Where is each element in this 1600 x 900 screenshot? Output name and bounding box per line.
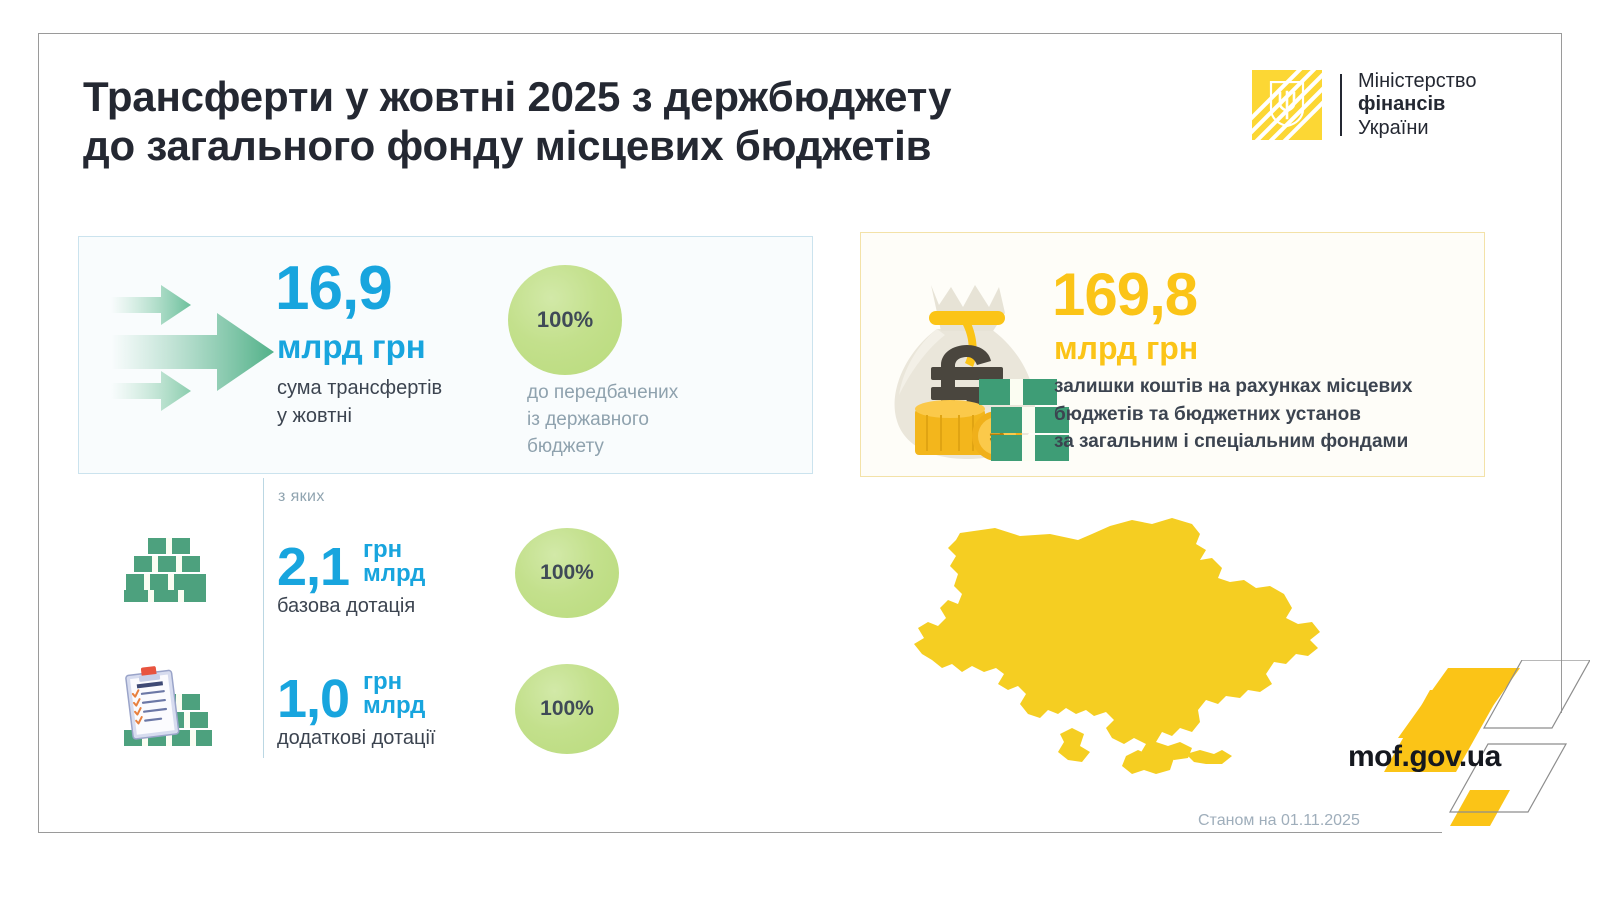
balances-description-line1: залишки коштів на рахунках місцевих bbox=[1054, 373, 1412, 401]
breakdown-row-1-value: 1,0 bbox=[277, 672, 349, 726]
logo-divider bbox=[1340, 74, 1342, 136]
ukraine-map-icon bbox=[900, 498, 1325, 783]
transfers-description: сума трансфертів у жовтні bbox=[277, 374, 442, 431]
transfers-percent-caption-line2: із державного bbox=[527, 406, 678, 433]
transfers-card bbox=[78, 236, 813, 474]
breakdown-row-0-description: базова дотація bbox=[277, 596, 415, 616]
balances-description-line2: бюджетів та бюджетних установ bbox=[1054, 401, 1412, 429]
transfers-unit: млрд грн bbox=[277, 330, 426, 363]
transfers-percent-caption-line3: бюджету bbox=[527, 433, 678, 460]
ministry-logo-text: Міністерство фінансів України bbox=[1358, 70, 1476, 140]
transfers-value: 16,9 bbox=[275, 258, 392, 320]
breakdown-row-1-unit-line2: млрд bbox=[363, 694, 425, 718]
page-title: Трансферти у жовтні 2025 з держбюджету д… bbox=[83, 72, 1203, 170]
page-title-line1: Трансферти у жовтні 2025 з держбюджету bbox=[83, 72, 1203, 121]
balances-description: залишки коштів на рахунках місцевих бюдж… bbox=[1054, 373, 1412, 456]
banknote-stack-icon bbox=[120, 532, 212, 604]
breakdown-label: з яких bbox=[278, 488, 325, 506]
money-bag-icon: ₴ bbox=[879, 261, 1079, 466]
logo-text-line1: Міністерство bbox=[1358, 70, 1476, 93]
breakdown-row-0-unit-line2: млрд bbox=[363, 562, 425, 586]
logo-text-line2: фінансів bbox=[1358, 93, 1476, 116]
logo-text-line3: України bbox=[1358, 117, 1476, 140]
page-title-line2: до загального фонду місцевих бюджетів bbox=[83, 121, 1203, 170]
transfers-percent-caption-line1: до передбачених bbox=[527, 379, 678, 406]
balances-description-line3: за загальним і спеціальним фондами bbox=[1054, 428, 1412, 456]
transfers-description-line2: у жовтні bbox=[277, 402, 442, 430]
as-of-date: Станом на 01.11.2025 bbox=[1198, 812, 1360, 830]
clipboard-banknotes-icon bbox=[110, 658, 215, 753]
breakdown-row-1-unit-line1: грн bbox=[363, 670, 425, 694]
transfers-description-line1: сума трансфертів bbox=[277, 374, 442, 402]
ministry-logo-mark-icon bbox=[1252, 70, 1322, 140]
breakdown-row-0-unit-line1: грн bbox=[363, 538, 425, 562]
breakdown-divider bbox=[263, 478, 264, 758]
breakdown-row-1-unit: грн млрд bbox=[363, 670, 425, 719]
breakdown-row-1-percent-badge: 100% bbox=[515, 664, 619, 754]
breakdown-row-0-value: 2,1 bbox=[277, 540, 349, 594]
trident-shield-icon bbox=[1269, 81, 1305, 127]
breakdown-row-0-percent-badge: 100% bbox=[515, 528, 619, 618]
ministry-logo: Міністерство фінансів України bbox=[1252, 70, 1476, 140]
balances-unit: млрд грн bbox=[1054, 332, 1198, 364]
transfers-percent-badge: 100% bbox=[508, 265, 622, 375]
breakdown-row-1-description: додаткові дотації bbox=[277, 728, 435, 748]
infographic-canvas: Трансферти у жовтні 2025 з держбюджету д… bbox=[0, 0, 1600, 900]
arrows-icon bbox=[109, 273, 279, 433]
site-url[interactable]: mof.gov.ua bbox=[1348, 740, 1501, 774]
transfers-percent-caption: до передбачених із державного бюджету bbox=[527, 379, 678, 460]
breakdown-row-0-unit: грн млрд bbox=[363, 538, 425, 587]
balances-value: 169,8 bbox=[1052, 265, 1197, 325]
